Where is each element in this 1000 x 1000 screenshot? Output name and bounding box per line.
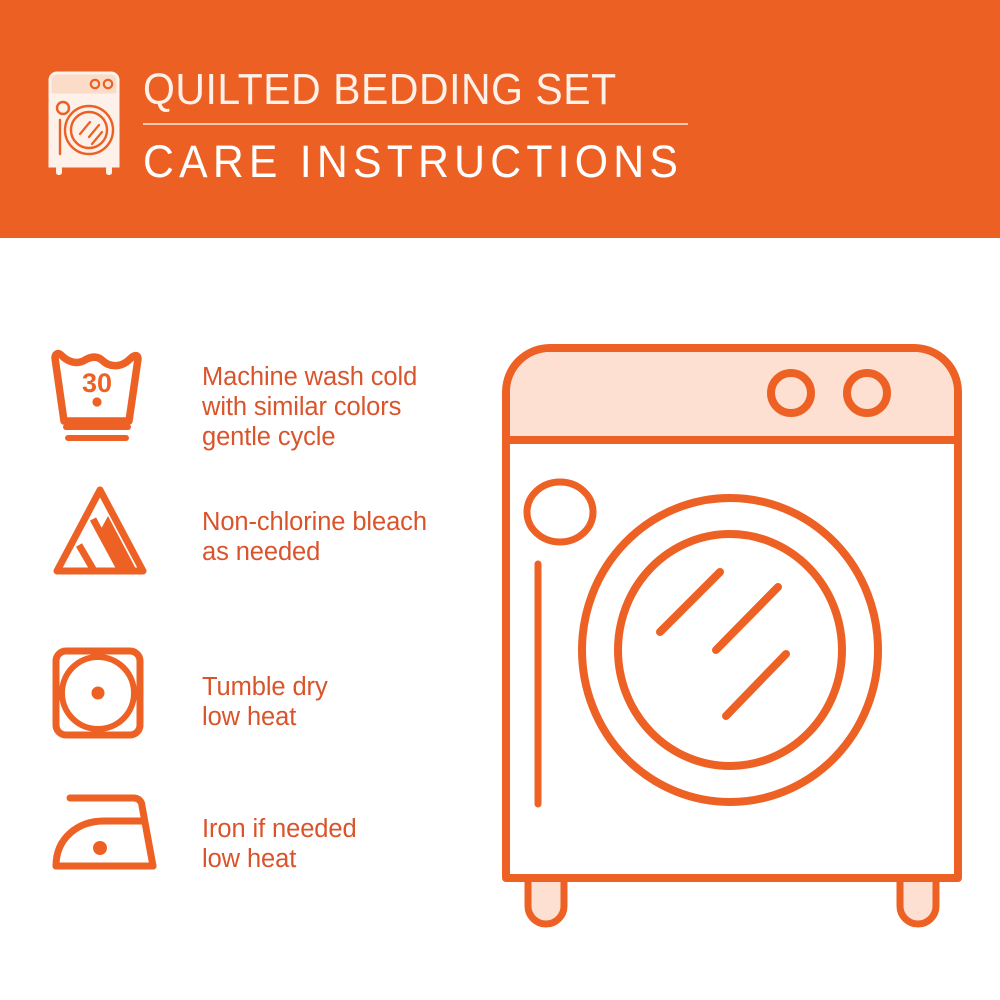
washing-machine-icon (44, 68, 124, 178)
header-title-block: QUILTED BEDDING SET CARE INSTRUCTIONS (143, 63, 763, 188)
care-item-label: Tumble dry low heat (202, 672, 328, 732)
wash-tub-icon: 30 (48, 348, 152, 451)
front-load-washing-machine-illustration (492, 332, 972, 940)
page-header: QUILTED BEDDING SET CARE INSTRUCTIONS (0, 0, 1000, 238)
page-title: QUILTED BEDDING SET (143, 63, 720, 117)
bleach-triangle-icon (48, 483, 152, 584)
care-instructions-page: QUILTED BEDDING SET CARE INSTRUCTIONS 30 (0, 0, 1000, 1000)
title-divider (143, 123, 688, 125)
care-item-label: Non-chlorine bleach as needed (202, 507, 427, 567)
care-item-label: Iron if needed low heat (202, 814, 357, 874)
tumble-dry-icon (48, 643, 148, 746)
care-instruction-list: 30 Machine wash cold with similar colors… (0, 238, 480, 1000)
iron-icon (48, 788, 162, 883)
wash-temperature-label: 30 (82, 368, 112, 398)
care-item-label: Machine wash cold with similar colors ge… (202, 362, 417, 452)
page-subtitle: CARE INSTRUCTIONS (143, 136, 732, 188)
